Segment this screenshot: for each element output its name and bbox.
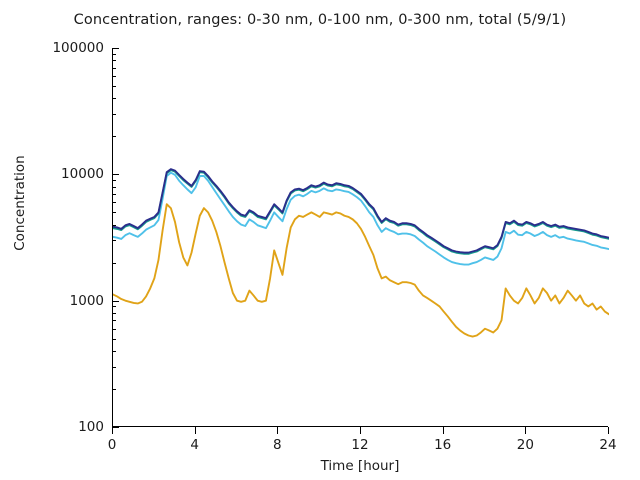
- x-tick-label: 16: [413, 437, 473, 453]
- x-axis-label: Time [hour]: [112, 458, 608, 474]
- y-tick-minor: [112, 225, 116, 226]
- y-tick-label: 100000: [4, 40, 104, 56]
- y-tick-minor: [112, 339, 116, 340]
- y-tick-minor: [112, 68, 116, 69]
- y-tick-minor: [112, 313, 116, 314]
- y-tick-minor: [112, 212, 116, 213]
- y-tick-minor: [112, 76, 116, 77]
- x-tick-major: [112, 427, 113, 434]
- plot-lines: [113, 48, 609, 427]
- x-tick-major: [277, 427, 278, 434]
- series-line-total: [113, 169, 609, 253]
- y-tick-minor: [112, 86, 116, 87]
- y-tick-minor: [112, 263, 116, 264]
- y-tick-minor: [112, 187, 116, 188]
- y-tick-minor: [112, 194, 116, 195]
- x-tick-label: 20: [495, 437, 555, 453]
- x-tick-label: 0: [82, 437, 142, 453]
- series-line-range_0_100: [113, 173, 609, 265]
- x-tick-label: 12: [330, 437, 390, 453]
- y-tick-major: [112, 48, 119, 49]
- chart-figure: Concentration, ranges: 0-30 nm, 0-100 nm…: [0, 0, 640, 480]
- y-tick-label: 100: [4, 419, 104, 435]
- series-line-range_0_30: [113, 204, 609, 336]
- y-tick-minor: [112, 54, 116, 55]
- y-tick-major: [112, 174, 119, 175]
- y-tick-minor: [112, 389, 116, 390]
- x-tick-label: 4: [165, 437, 225, 453]
- y-tick-minor: [112, 136, 116, 137]
- y-tick-minor: [112, 351, 116, 352]
- plot-area: [112, 48, 608, 427]
- y-tick-minor: [112, 98, 116, 99]
- x-tick-major: [608, 427, 609, 434]
- x-tick-major: [443, 427, 444, 434]
- y-axis-label: Concentration: [12, 103, 28, 303]
- x-tick-major: [525, 427, 526, 434]
- y-tick-minor: [112, 202, 116, 203]
- x-tick-major: [195, 427, 196, 434]
- x-tick-label: 24: [578, 437, 638, 453]
- y-tick-minor: [112, 60, 116, 61]
- y-tick-minor: [112, 180, 116, 181]
- y-tick-major: [112, 427, 119, 428]
- y-tick-minor: [112, 367, 116, 368]
- x-tick-label: 8: [247, 437, 307, 453]
- y-tick-minor: [112, 320, 116, 321]
- y-tick-minor: [112, 306, 116, 307]
- y-tick-minor: [112, 329, 116, 330]
- y-tick-minor: [112, 240, 116, 241]
- y-tick-minor: [112, 114, 116, 115]
- x-tick-major: [360, 427, 361, 434]
- y-tick-major: [112, 301, 119, 302]
